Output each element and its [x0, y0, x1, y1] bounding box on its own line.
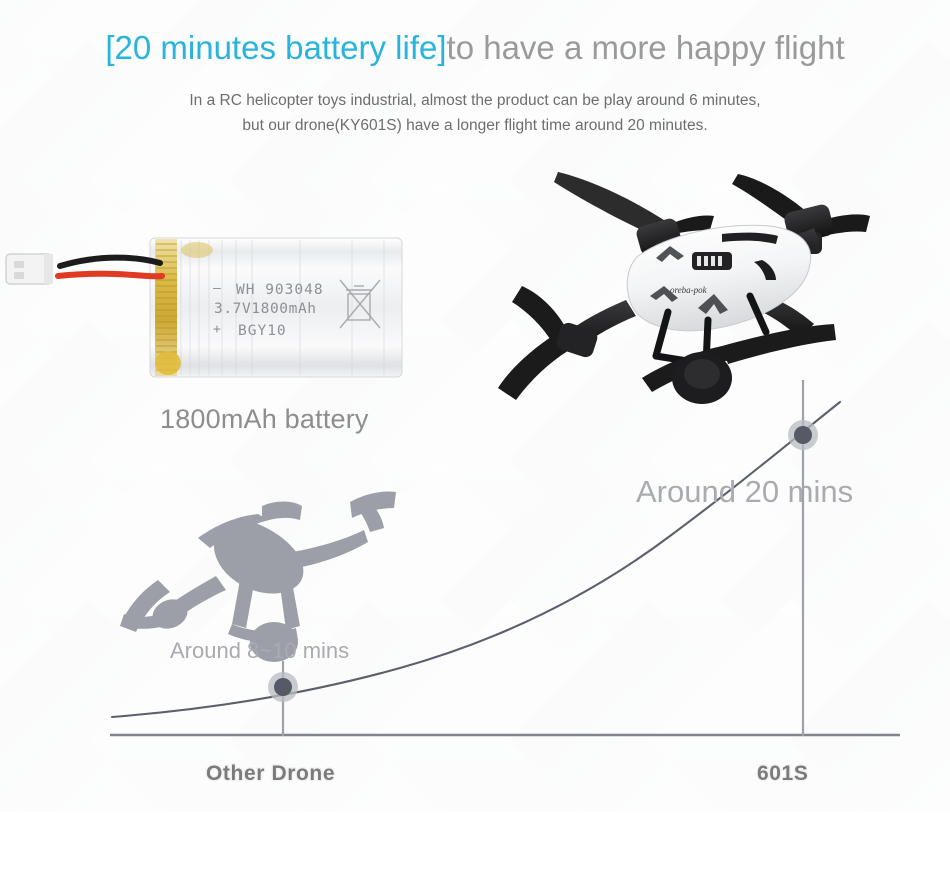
- banner-page: [20 minutes battery life]to have a more …: [0, 0, 950, 870]
- drone-brand-logo: oreba-pok: [670, 285, 708, 295]
- battery-polarity-negative: –: [213, 281, 221, 296]
- axis-tick-label-other-drone: Other Drone: [206, 762, 335, 786]
- page-subtitle: In a RC helicopter toys industrial, almo…: [0, 88, 950, 138]
- page-title-accent: [20 minutes battery life]: [105, 29, 446, 66]
- drone-grille-badge: [692, 252, 732, 270]
- chart-marker-other[interactable]: [268, 672, 298, 702]
- battery-image: – WH 903048 3.7V1800mAh + BGY10: [0, 218, 420, 388]
- page-title-rest: to have a more happy flight: [447, 29, 845, 66]
- page-title: [20 minutes battery life]to have a more …: [0, 27, 950, 69]
- battery-batch: BGY10: [238, 323, 287, 339]
- axis-tick-label-601s: 601S: [757, 762, 808, 786]
- drone-propeller-rear-left: [554, 172, 714, 238]
- page-subtitle-line2: but our drone(KY601S) have a longer flig…: [0, 113, 950, 138]
- chart-marker-601s[interactable]: [788, 420, 818, 450]
- battery-connector: [6, 254, 53, 284]
- chart-label-other-drone: Around 8~10 mins: [170, 638, 349, 664]
- battery-model: WH 903048: [236, 282, 324, 298]
- battery-polarity-positive: +: [213, 322, 221, 337]
- battery-wires: [58, 258, 162, 277]
- drone-silhouette-other: [120, 491, 396, 662]
- battery-rating: 3.7V1800mAh: [214, 301, 317, 317]
- page-subtitle-line1: In a RC helicopter toys industrial, almo…: [0, 88, 950, 113]
- chart-label-601s: Around 20 mins: [636, 474, 853, 510]
- flight-time-chart: [0, 380, 950, 810]
